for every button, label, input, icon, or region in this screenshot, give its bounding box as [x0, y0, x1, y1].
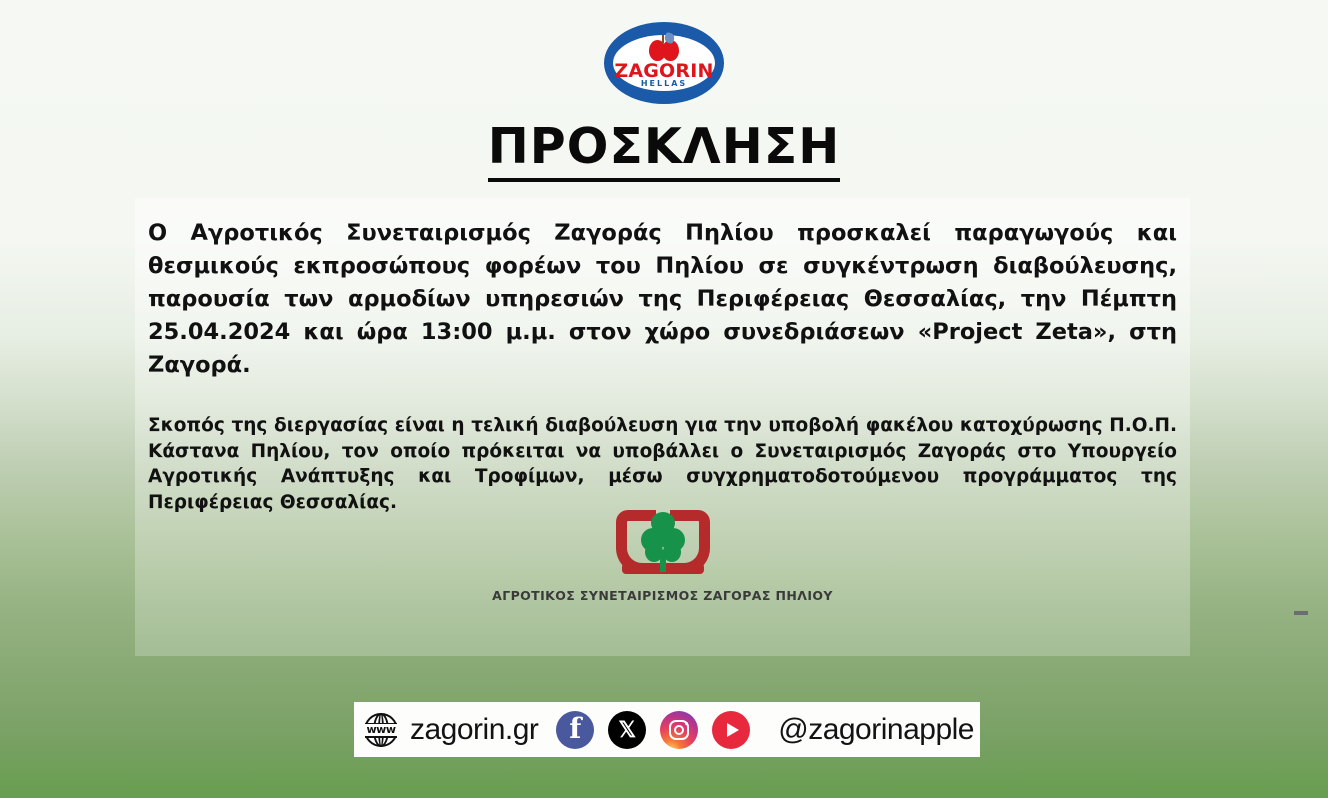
zagorin-brand-logo: ZAGORIN HELLAS: [604, 22, 724, 104]
youtube-play-triangle: [727, 723, 739, 737]
apple-icon: [649, 33, 679, 61]
cooperative-monogram-mark: [616, 508, 710, 576]
facebook-icon[interactable]: f: [556, 711, 594, 749]
x-twitter-icon[interactable]: 𝕏: [608, 711, 646, 749]
page-title: ΠΡΟΣΚΛΗΣΗ: [0, 118, 1328, 175]
social-links-group: f 𝕏 @zagorinapple: [556, 711, 980, 749]
globe-parallel-2: [365, 736, 397, 738]
cooperative-caption: ΑΓΡΟΤΙΚΟΣ ΣΥΝΕΤΑΙΡΙΣΜΟΣ ΖΑΓΟΡΑΣ ΠΗΛΙΟΥ: [135, 588, 1190, 603]
content-panel: Ο Αγροτικός Συνεταιρισμός Ζαγοράς Πηλίου…: [135, 198, 1190, 656]
social-handle-text: @zagorinapple: [778, 713, 974, 747]
website-url-text: zagorin.gr: [410, 713, 538, 747]
footer-website-group[interactable]: www zagorin.gr: [354, 713, 538, 747]
instagram-lens: [674, 725, 684, 735]
invitation-paragraph: Ο Αγροτικός Συνεταιρισμός Ζαγοράς Πηλίου…: [148, 217, 1177, 382]
globe-www-icon: www: [364, 713, 398, 747]
purpose-paragraph: Σκοπός της διεργασίας είναι η τελική δια…: [148, 413, 1177, 515]
globe-www-label: www: [364, 724, 398, 736]
facebook-glyph: f: [556, 711, 594, 749]
cooperative-logo: ΑΓΡΟΤΙΚΟΣ ΣΥΝΕΤΑΙΡΙΣΜΟΣ ΖΑΓΟΡΑΣ ΠΗΛΙΟΥ: [135, 508, 1190, 603]
apple-stem: [662, 35, 664, 43]
page-title-text: ΠΡΟΣΚΛΗΣΗ: [488, 118, 840, 182]
tree-leaf-top: [651, 512, 675, 534]
instagram-icon[interactable]: [660, 711, 698, 749]
minimize-dash-marker[interactable]: [1294, 611, 1308, 615]
footer-contact-bar: www zagorin.gr f 𝕏 @zagorinapple: [354, 702, 980, 757]
poster-page: ZAGORIN HELLAS ΠΡΟΣΚΛΗΣΗ Ο Αγροτικός Συν…: [0, 0, 1328, 798]
x-twitter-glyph: 𝕏: [608, 711, 646, 749]
youtube-icon[interactable]: [712, 711, 750, 749]
logo-brand-subtitle: HELLAS: [604, 79, 724, 88]
instagram-dot: [685, 722, 688, 725]
